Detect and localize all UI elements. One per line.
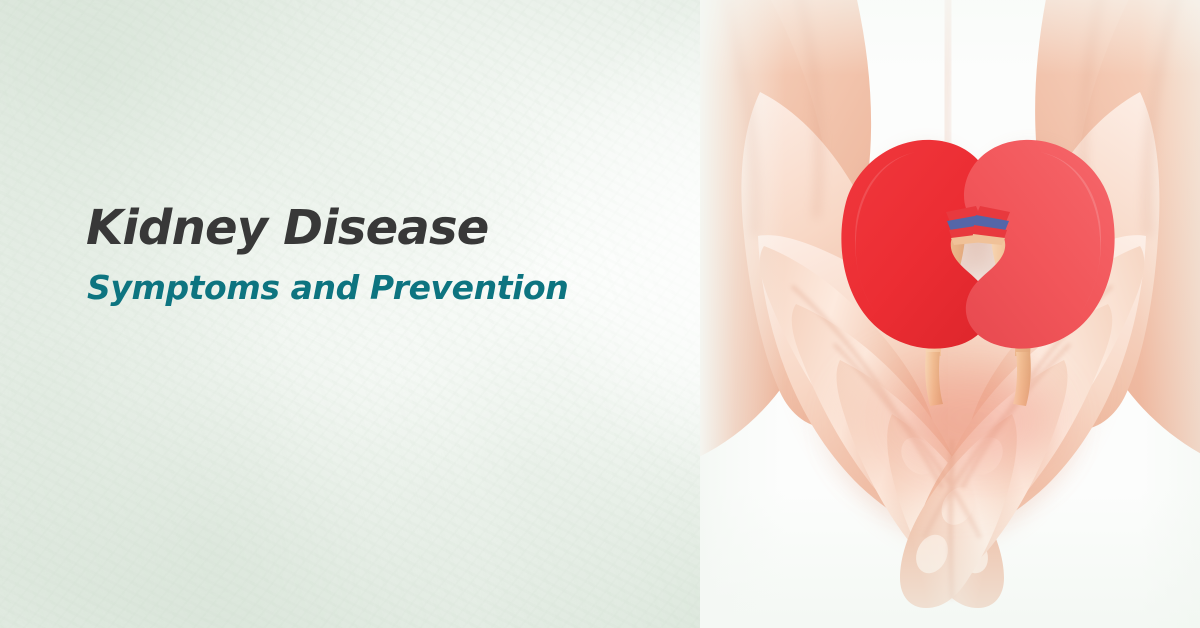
page-title: Kidney Disease (86, 203, 646, 254)
headline-block: Kidney Disease Symptoms and Prevention (86, 203, 646, 306)
kidney-right-vessels (972, 206, 1010, 245)
hands-kidneys-illustration (700, 0, 1200, 628)
kidney-disease-banner: Kidney Disease Symptoms and Prevention (0, 0, 1200, 628)
page-subtitle: Symptoms and Prevention (87, 270, 646, 306)
kidney-color-spill (900, 374, 1056, 462)
hands-holding-kidneys-photo (700, 0, 1200, 628)
